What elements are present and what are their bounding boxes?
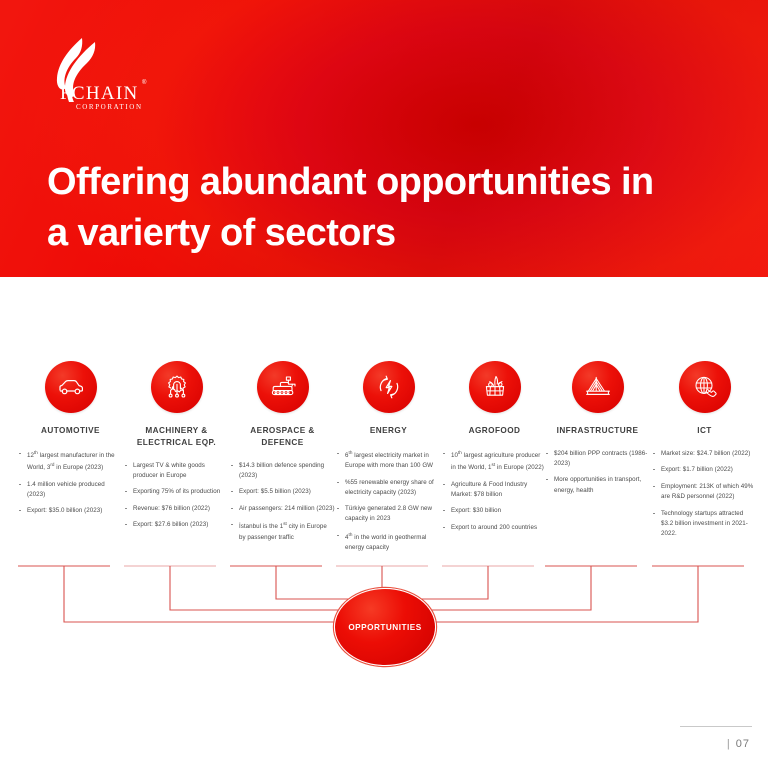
fact-item: Exporting 75% of its production bbox=[124, 487, 229, 497]
fact-item: Employment: 213K of which 49% are R&D pe… bbox=[652, 482, 757, 502]
fact-item: 12th largest manufacturer in the World, … bbox=[18, 449, 123, 473]
sector-facts: 12th largest manufacturer in the World, … bbox=[18, 449, 123, 516]
sector-title: AGROFOOD bbox=[442, 425, 547, 437]
sector-facts: $204 billion PPP contracts (1986-2023) M… bbox=[545, 449, 650, 496]
sector-title: AUTOMOTIVE bbox=[18, 425, 123, 437]
fact-item: Export: $1.7 billion (2022) bbox=[652, 465, 757, 475]
slide: FCHAIN ® CORPORATION Offering abundant o… bbox=[0, 0, 768, 768]
opportunities-hub[interactable]: OPPORTUNITIES bbox=[334, 588, 436, 666]
slide-header: FCHAIN ® CORPORATION Offering abundant o… bbox=[0, 0, 768, 277]
sector-column-automotive[interactable]: AUTOMOTIVE 12th largest manufacturer in … bbox=[18, 361, 123, 523]
sector-columns: AUTOMOTIVE 12th largest manufacturer in … bbox=[0, 277, 768, 577]
sector-column-agrofood[interactable]: AGROFOOD 10th largest agriculture produc… bbox=[442, 361, 547, 539]
sectors-board: AUTOMOTIVE 12th largest manufacturer in … bbox=[0, 277, 768, 768]
page-number: |07 bbox=[727, 738, 750, 750]
page-number-value: 07 bbox=[736, 738, 750, 750]
sector-column-aerospace[interactable]: AEROSPACE & DEFENCE $14.3 billion defenc… bbox=[230, 361, 335, 549]
sector-title: MACHINERY & ELECTRICAL EQP. bbox=[124, 425, 229, 449]
sector-column-infrastructure[interactable]: INFRASTRUCTURE $204 billion PPP contract… bbox=[545, 361, 650, 502]
sector-facts: Market size: $24.7 billion (2022) Export… bbox=[652, 449, 757, 539]
fact-item: Export: $5.5 billion (2023) bbox=[230, 487, 335, 497]
page-number-separator: | bbox=[727, 738, 731, 750]
fact-item: %55 renewable energy share of electricit… bbox=[336, 478, 441, 498]
fact-item: 4th in the world in geothermal energy ca… bbox=[336, 531, 441, 553]
page-title: Offering abundant opportunities in a var… bbox=[47, 157, 747, 258]
car-icon bbox=[45, 361, 97, 413]
footer-divider bbox=[680, 726, 752, 727]
page-title-line-2: a varierty of sectors bbox=[47, 208, 747, 259]
fact-item: Revenue: $76 billion (2022) bbox=[124, 504, 229, 514]
sector-facts: 6th largest electricity market in Europe… bbox=[336, 449, 441, 553]
sector-title: INFRASTRUCTURE bbox=[545, 425, 650, 437]
sector-facts: $14.3 billion defence spending (2023) Ex… bbox=[230, 461, 335, 543]
logo-registered-mark: ® bbox=[142, 80, 146, 86]
renewable-energy-icon bbox=[363, 361, 415, 413]
fact-item: 1.4 million vehicle produced (2023) bbox=[18, 480, 123, 500]
page-title-line-1: Offering abundant opportunities in bbox=[47, 157, 747, 208]
fact-item: İstanbul is the 1st city in Europe by pa… bbox=[230, 520, 335, 542]
logo-subtitle: CORPORATION bbox=[76, 104, 143, 111]
fact-item: Export to around 200 countries bbox=[442, 523, 547, 533]
sector-title: ENERGY bbox=[336, 425, 441, 437]
sector-facts: 10th largest agriculture producer in the… bbox=[442, 449, 547, 533]
logo-wordmark: FCHAIN bbox=[60, 84, 139, 103]
fact-item: Export: $35.0 billion (2023) bbox=[18, 506, 123, 516]
opportunities-hub-label: OPPORTUNITIES bbox=[348, 623, 421, 632]
fact-item: 10th largest agriculture producer in the… bbox=[442, 449, 547, 473]
sector-facts: Largest TV & white goods producer in Eur… bbox=[124, 461, 229, 531]
fact-item: Türkiye generated 2.8 GW new capacity in… bbox=[336, 504, 441, 524]
fact-item: Technology startups attracted $3.2 billi… bbox=[652, 509, 757, 539]
sector-title: AEROSPACE & DEFENCE bbox=[230, 425, 335, 449]
sector-column-machinery[interactable]: MACHINERY & ELECTRICAL EQP. Largest TV &… bbox=[124, 361, 229, 537]
sector-column-ict[interactable]: ICT Market size: $24.7 billion (2022) Ex… bbox=[652, 361, 757, 545]
fact-item: $14.3 billion defence spending (2023) bbox=[230, 461, 335, 481]
fact-item: More opportunities in transport, energy,… bbox=[545, 475, 650, 495]
globe-phone-icon bbox=[679, 361, 731, 413]
fact-item: Largest TV & white goods producer in Eur… bbox=[124, 461, 229, 481]
bridge-icon bbox=[572, 361, 624, 413]
fact-item: Export: $27.6 billion (2023) bbox=[124, 520, 229, 530]
fact-item: Export: $30 billion bbox=[442, 506, 547, 516]
fact-item: Air passengers: 214 million (2023) bbox=[230, 504, 335, 514]
fact-item: 6th largest electricity market in Europe… bbox=[336, 449, 441, 471]
produce-crate-icon bbox=[469, 361, 521, 413]
sector-column-energy[interactable]: ENERGY 6th largest electricity market in… bbox=[336, 361, 441, 559]
gear-circuit-icon bbox=[151, 361, 203, 413]
fact-item: $204 billion PPP contracts (1986-2023) bbox=[545, 449, 650, 469]
fchain-logo: FCHAIN ® CORPORATION bbox=[38, 36, 158, 122]
tank-icon bbox=[257, 361, 309, 413]
sector-title: ICT bbox=[652, 425, 757, 437]
fact-item: Agriculture & Food Industry Market: $78 … bbox=[442, 480, 547, 500]
fact-item: Market size: $24.7 billion (2022) bbox=[652, 449, 757, 459]
